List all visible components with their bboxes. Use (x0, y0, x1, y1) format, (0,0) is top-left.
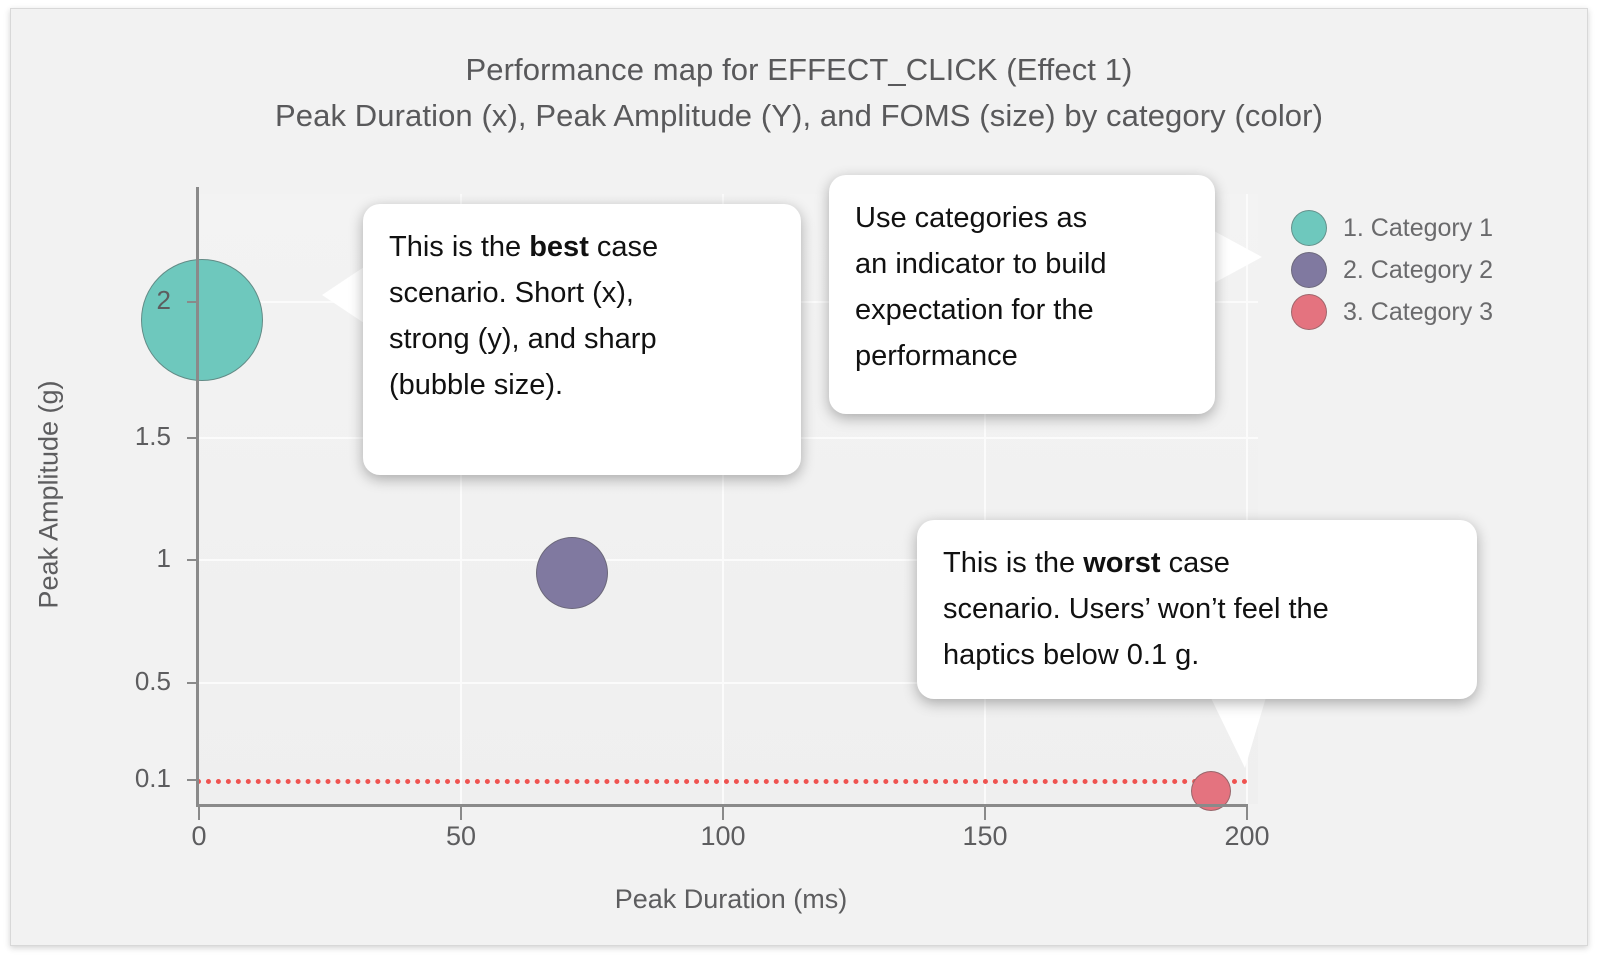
callout-worst-case-line-1: This is the worst case (943, 540, 1451, 586)
y-axis-line (196, 187, 199, 807)
legend-swatch-icon (1291, 210, 1327, 246)
callout-categories-line-4: performance (855, 333, 1189, 379)
y-axis-label: Peak Amplitude (g) (34, 235, 65, 755)
legend: 1. Category 1 2. Category 2 3. Category … (1291, 207, 1493, 333)
legend-swatch-icon (1291, 252, 1327, 288)
y-tick-mark (187, 682, 198, 684)
x-tick-mark (1246, 807, 1248, 820)
callout-worst-case-line-3: haptics below 0.1 g. (943, 632, 1451, 678)
legend-label: 1. Category 1 (1343, 214, 1493, 243)
callout-categories-indicator[interactable]: Use categories as an indicator to build … (829, 175, 1215, 414)
y-tick-mark (187, 437, 198, 439)
legend-item-category-1[interactable]: 1. Category 1 (1291, 207, 1493, 249)
x-tick-mark (460, 807, 462, 820)
legend-label: 2. Category 2 (1343, 256, 1493, 285)
callout-best-case[interactable]: This is the best case scenario. Short (x… (363, 204, 801, 475)
chart-title-line-1: Performance map for EFFECT_CLICK (Effect… (466, 52, 1133, 87)
x-tick-label-100: 100 (678, 821, 768, 852)
x-tick-label-50: 50 (416, 821, 506, 852)
y-tick-mark (187, 779, 198, 781)
x-tick-label-150: 150 (940, 821, 1030, 852)
x-tick-mark (722, 807, 724, 820)
callout-categories-line-2: an indicator to build (855, 241, 1189, 287)
x-tick-mark (198, 807, 200, 820)
callout-categories-line-1: Use categories as (855, 195, 1189, 241)
chart-title-line-2: Peak Duration (x), Peak Amplitude (Y), a… (11, 93, 1587, 139)
callout-categories-line-3: expectation for the (855, 287, 1189, 333)
legend-swatch-icon (1291, 294, 1327, 330)
legend-label: 3. Category 3 (1343, 298, 1493, 327)
legend-item-category-3[interactable]: 3. Category 3 (1291, 291, 1493, 333)
x-tick-label-0: 0 (154, 821, 244, 852)
bubble-category-2[interactable] (536, 537, 608, 609)
x-tick-mark (984, 807, 986, 820)
callout-worst-case[interactable]: This is the worst case scenario. Users’ … (917, 520, 1477, 699)
x-axis-label: Peak Duration (ms) (11, 884, 1451, 915)
y-tick-mark (187, 301, 198, 303)
callout-best-case-tail (322, 267, 364, 323)
x-tick-label-200: 200 (1202, 821, 1292, 852)
callout-worst-case-tail (1209, 694, 1267, 768)
legend-item-category-2[interactable]: 2. Category 2 (1291, 249, 1493, 291)
y-tick-mark (187, 559, 198, 561)
callout-best-case-line-2: scenario. Short (x), (389, 270, 775, 316)
chart-title: Performance map for EFFECT_CLICK (Effect… (11, 47, 1587, 139)
chart-canvas: Performance map for EFFECT_CLICK (Effect… (10, 8, 1588, 946)
callout-best-case-line-3: strong (y), and sharp (389, 316, 775, 362)
callout-categories-tail (1214, 231, 1262, 283)
callout-best-case-line-1: This is the best case (389, 224, 775, 270)
callout-best-case-line-4: (bubble size). (389, 362, 775, 408)
threshold-line-0.1g (196, 779, 1248, 784)
callout-worst-case-line-2: scenario. Users’ won’t feel the (943, 586, 1451, 632)
y-tick-label-0.1: 0.1 (41, 763, 171, 794)
bubble-category-1[interactable] (141, 259, 263, 381)
